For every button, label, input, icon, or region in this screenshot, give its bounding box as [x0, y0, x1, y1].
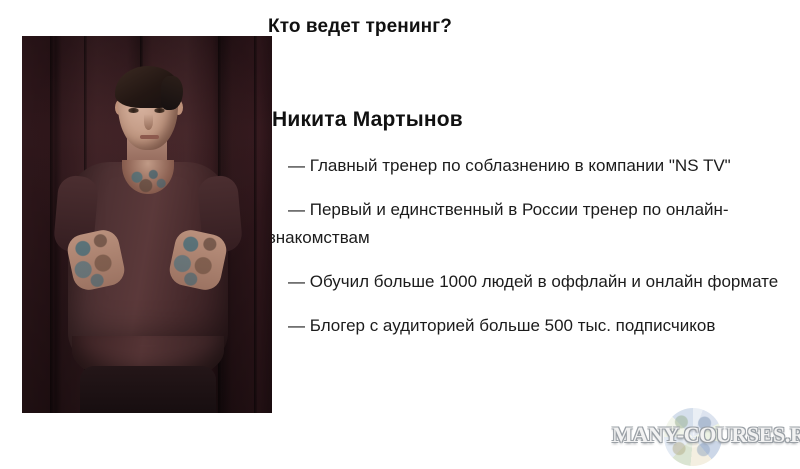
list-item: — Блогер с аудиторией больше 500 тыс. по…	[268, 312, 796, 340]
figure-nose	[144, 114, 153, 130]
trainer-credentials-list: — Главный тренер по соблазнению в компан…	[268, 152, 796, 356]
figure-pants	[80, 366, 216, 413]
chest-tattoo	[126, 166, 170, 194]
list-item: — Обучил больше 1000 людей в оффлайн и о…	[268, 268, 796, 296]
trainer-figure	[22, 36, 272, 413]
trainer-photo	[22, 36, 272, 413]
page-title: Кто ведет тренинг?	[268, 16, 452, 38]
figure-eye-left	[128, 108, 139, 113]
page-root: Кто ведет тренинг? Никита Мартынов — Гла…	[0, 0, 800, 469]
trainer-name: Никита Мартынов	[272, 108, 463, 132]
figure-hair	[115, 66, 181, 108]
watermark: MANY-COURSES.RU	[612, 406, 798, 468]
content-column: Кто ведет тренинг? Никита Мартынов — Гла…	[262, 0, 794, 469]
list-item: — Главный тренер по соблазнению в компан…	[268, 152, 796, 180]
list-item: — Первый и единственный в России тренер …	[268, 196, 796, 252]
figure-mouth	[140, 135, 159, 139]
watermark-text: MANY-COURSES.RU	[612, 422, 798, 448]
